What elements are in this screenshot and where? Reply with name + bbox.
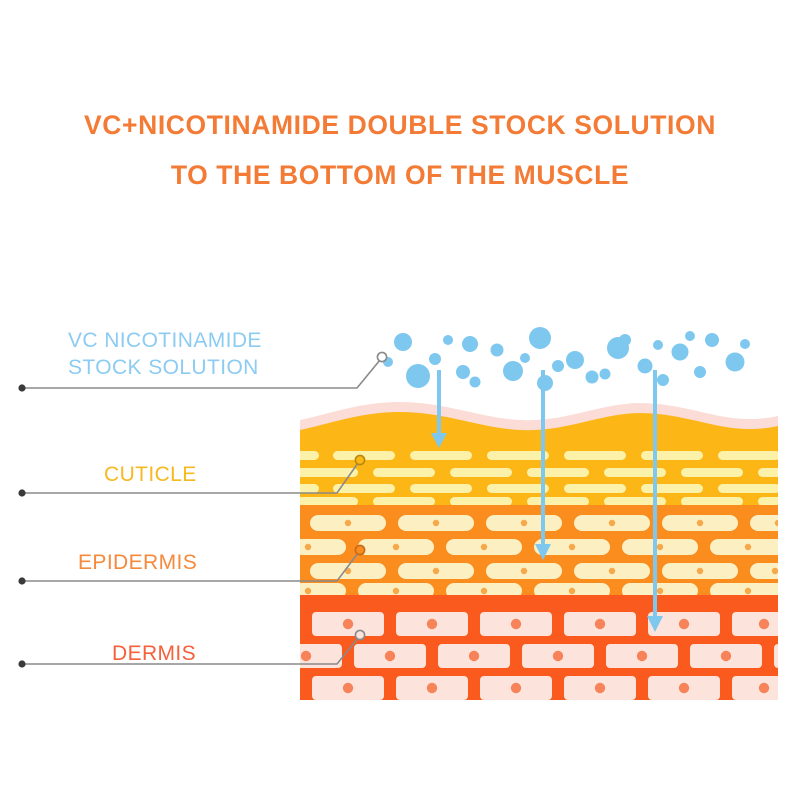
- layer-epidermis: [270, 505, 796, 599]
- infographic-canvas: VC+NICOTINAMIDE DOUBLE STOCK SOLUTION TO…: [0, 0, 800, 800]
- callout-solution-line2: STOCK SOLUTION: [68, 354, 262, 381]
- callout-label-dermis: DERMIS: [112, 640, 196, 667]
- callout-label-epidermis: EPIDERMIS: [78, 549, 197, 576]
- callout-label-cuticle: CUTICLE: [104, 461, 197, 488]
- callout-label-solution: VC NICOTINAMIDE STOCK SOLUTION: [68, 327, 262, 381]
- callout-solution-line1: VC NICOTINAMIDE: [68, 327, 262, 354]
- skin-cross-section-diagram: [0, 0, 800, 800]
